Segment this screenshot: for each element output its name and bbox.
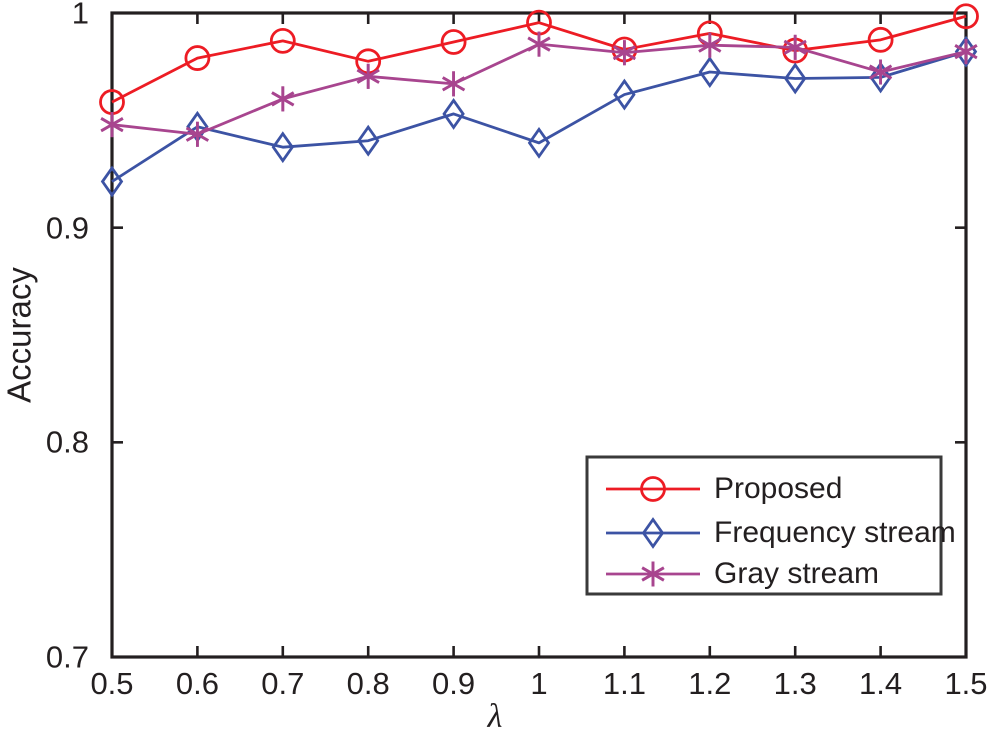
x-tick-label: 1 bbox=[530, 668, 547, 699]
x-tick-label: 1.4 bbox=[859, 668, 902, 699]
x-tick-label: 0.5 bbox=[90, 668, 133, 699]
y-tick-label: 0.8 bbox=[46, 427, 89, 458]
plot-area bbox=[0, 0, 990, 750]
y-tick-label: 0.7 bbox=[46, 642, 89, 673]
y-tick-label: 1 bbox=[72, 0, 89, 29]
y-tick-label: 0.9 bbox=[46, 212, 89, 243]
legend-label[interactable]: Proposed bbox=[714, 474, 842, 504]
x-tick-label: 0.6 bbox=[176, 668, 219, 699]
x-tick-label: 0.9 bbox=[432, 668, 475, 699]
x-tick-label: 1.3 bbox=[774, 668, 817, 699]
legend-label[interactable]: Frequency stream bbox=[714, 518, 956, 548]
x-axis-title: λ bbox=[0, 700, 990, 734]
series-line bbox=[112, 44, 966, 134]
x-tick-label: 1.5 bbox=[944, 668, 987, 699]
x-tick-label: 1.1 bbox=[603, 668, 646, 699]
accuracy-vs-lambda-chart: Accuracy λ 0.50.60.70.80.911.11.21.31.41… bbox=[0, 0, 990, 750]
y-axis-title: Accuracy bbox=[3, 267, 36, 403]
legend-label[interactable]: Gray stream bbox=[714, 559, 879, 589]
x-tick-label: 1.2 bbox=[688, 668, 731, 699]
x-tick-label: 0.7 bbox=[261, 668, 304, 699]
x-tick-label: 0.8 bbox=[347, 668, 390, 699]
